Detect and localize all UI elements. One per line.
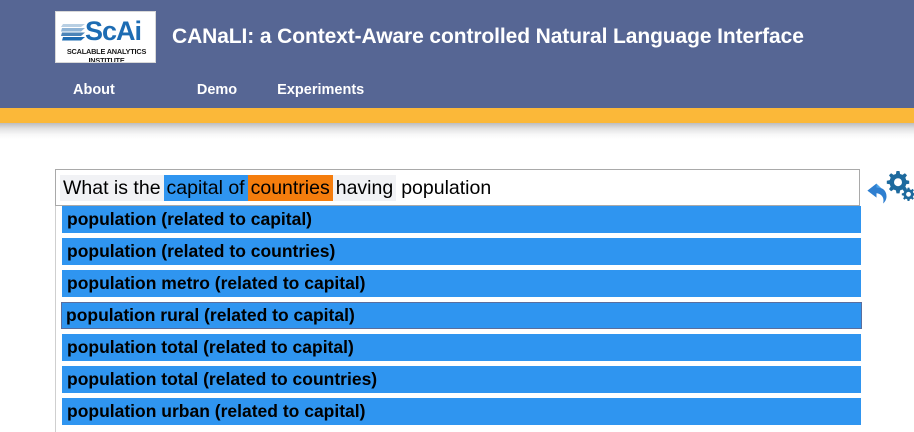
nav-item-experiments[interactable]: Experiments <box>277 82 364 98</box>
suggestion-item[interactable]: population urban (related to capital) <box>62 398 861 425</box>
suggestion-item-focused[interactable]: population rural (related to capital) <box>61 302 862 329</box>
query-token-1[interactable]: capital of <box>164 175 248 201</box>
logo-inner: ScAi SCALABLE ANALYTICS INSTITUTE <box>56 12 155 62</box>
query-token-0[interactable]: What is the <box>60 175 164 201</box>
gear-icon[interactable] <box>884 169 914 201</box>
suggestion-list: population (related to capital) populati… <box>55 206 862 430</box>
suggestion-item[interactable]: population (related to capital) <box>62 206 861 233</box>
suggestion-item[interactable]: population total (related to capital) <box>62 334 861 361</box>
header-shadow <box>0 123 914 139</box>
suggestion-item[interactable]: population total (related to countries) <box>62 366 861 393</box>
suggestion-item[interactable]: population metro (related to capital) <box>62 270 861 297</box>
logo-stripes-icon <box>61 21 87 43</box>
logo-tagline: SCALABLE ANALYTICS INSTITUTE <box>59 47 154 63</box>
logo-wordmark: ScAi <box>85 16 141 46</box>
accent-bar <box>0 108 914 123</box>
nav-item-about[interactable]: About <box>73 82 115 98</box>
query-actions <box>862 169 914 209</box>
scai-logo[interactable]: ScAi SCALABLE ANALYTICS INSTITUTE <box>55 11 156 63</box>
suggestion-item[interactable]: population (related to countries) <box>62 238 861 265</box>
main-nav: About Demo Experiments <box>55 82 364 98</box>
page-title: CANaLI: a Context-Aware controlled Natur… <box>172 25 804 49</box>
nav-item-demo[interactable]: Demo <box>197 82 237 98</box>
query-token-3[interactable]: having <box>333 175 396 201</box>
site-header: ScAi SCALABLE ANALYTICS INSTITUTE CANaLI… <box>0 0 914 108</box>
query-row: What is thecapital ofcountrieshavingpopu… <box>0 169 914 206</box>
query-token-4[interactable]: population <box>396 175 494 201</box>
list-left-rail <box>55 206 56 432</box>
query-token-2[interactable]: countries <box>248 175 333 201</box>
query-input[interactable]: What is thecapital ofcountrieshavingpopu… <box>55 169 860 206</box>
